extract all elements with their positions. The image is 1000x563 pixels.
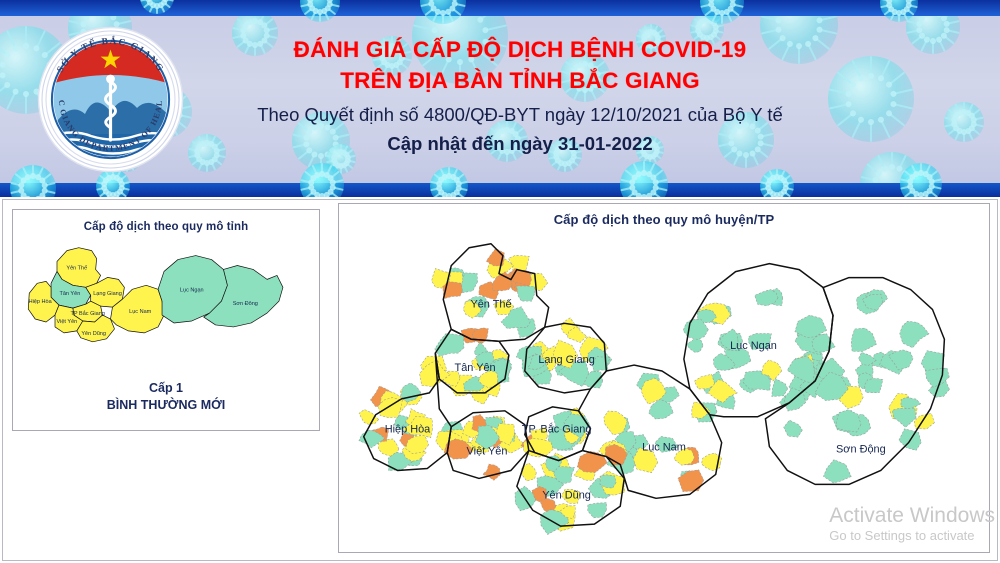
virus-decoration (906, 16, 960, 54)
district-label-hiep-hoa: Hiệp Hòa (385, 424, 431, 436)
province-label-lang-giang: Lạng Giang (93, 291, 122, 297)
district-label-son-dong: Sơn Động (836, 444, 886, 456)
banner-subtitle: Theo Quyết định số 4800/QĐ-BYT ngày 12/1… (210, 100, 830, 130)
commune-area (483, 464, 501, 480)
legend-level-name: BÌNH THƯỜNG MỚI (13, 397, 319, 414)
health-department-logo: SỞ Y TẾ BẮC GIANG BAC GIANG DEPARTMENT O… (33, 22, 188, 177)
banner-updated-date: Cập nhật đến ngày 31-01-2022 (210, 130, 830, 158)
district-map: Yên Thế Tân Yên Hiệp Hòa Lạng Giang TP. … (339, 204, 989, 552)
province-label-luc-nam: Lục Nam (129, 309, 152, 315)
screenshot-root: SỞ Y TẾ BẮC GIANG BAC GIANG DEPARTMENT O… (0, 0, 1000, 563)
virus-decoration (430, 167, 468, 197)
page-banner: SỞ Y TẾ BẮC GIANG BAC GIANG DEPARTMENT O… (0, 0, 1000, 197)
legend-level: Cấp 1 (13, 380, 319, 397)
province-label-tan-yen: Tân Yên (59, 291, 80, 297)
virus-decoration (900, 163, 942, 197)
commune-area (686, 337, 703, 353)
province-label-luc-ngan: Lục Ngạn (180, 287, 204, 293)
province-label-viet-yen: Việt Yên (57, 319, 78, 325)
district-label-lang-giang: Lạng Giang (538, 354, 594, 366)
commune-area (517, 286, 535, 301)
district-label-yen-the: Yên Thế (470, 298, 511, 310)
commune-area (864, 378, 882, 392)
banner-title-line1: ĐÁNH GIÁ CẤP ĐỘ DỊCH BỆNH COVID-19 (210, 34, 830, 65)
district-label-yen-dung: Yên Dũng (542, 489, 591, 501)
banner-title-line2: TRÊN ĐỊA BÀN TỈNH BẮC GIANG (210, 65, 830, 96)
commune-area (823, 460, 851, 483)
district-label-luc-ngan: Lục Ngạn (730, 340, 777, 352)
province-label-hiep-hoa: Hiệp Hòa (29, 299, 53, 305)
district-label-tp-bac-giang: TP. Bắc Giang (522, 423, 592, 436)
province-scale-panel: Cấp độ dịch theo quy mô tỉnh (12, 209, 320, 431)
banner-bottom-strip (0, 183, 1000, 197)
province-label-tp-bac-giang: TP Bắc Giang (71, 310, 105, 317)
commune-area (836, 410, 861, 432)
province-label-yen-dung: Yên Dũng (81, 331, 106, 337)
virus-decoration (828, 56, 914, 142)
banner-title-block: ĐÁNH GIÁ CẤP ĐỘ DỊCH BỆNH COVID-19 TRÊN … (210, 34, 830, 158)
commune-area (435, 333, 464, 356)
province-legend: Cấp 1 BÌNH THƯỜNG MỚI (13, 380, 319, 414)
commune-area (359, 410, 379, 425)
virus-decoration (760, 169, 794, 197)
province-label-son-dong: Sơn Đông (233, 301, 258, 307)
virus-decoration (944, 102, 984, 142)
district-label-luc-nam: Lục Nam (642, 442, 686, 454)
commune-area (901, 397, 921, 409)
province-label-yen-the: Yên Thế (66, 265, 87, 271)
commune-area (787, 356, 814, 384)
commune-area (914, 413, 934, 429)
district-label-viet-yen: Việt Yên (467, 446, 508, 458)
banner-top-strip (0, 0, 1000, 16)
district-scale-panel: Cấp độ dịch theo quy mô huyện/TP (338, 203, 990, 553)
commune-area (588, 503, 607, 518)
commune-area (508, 255, 529, 271)
virus-decoration (140, 0, 174, 14)
commune-area (851, 328, 876, 351)
commune-area (900, 321, 929, 348)
commune-area (784, 420, 803, 437)
commune-area (892, 408, 916, 427)
district-label-tan-yen: Tân Yên (455, 362, 496, 374)
commune-area (772, 378, 788, 396)
